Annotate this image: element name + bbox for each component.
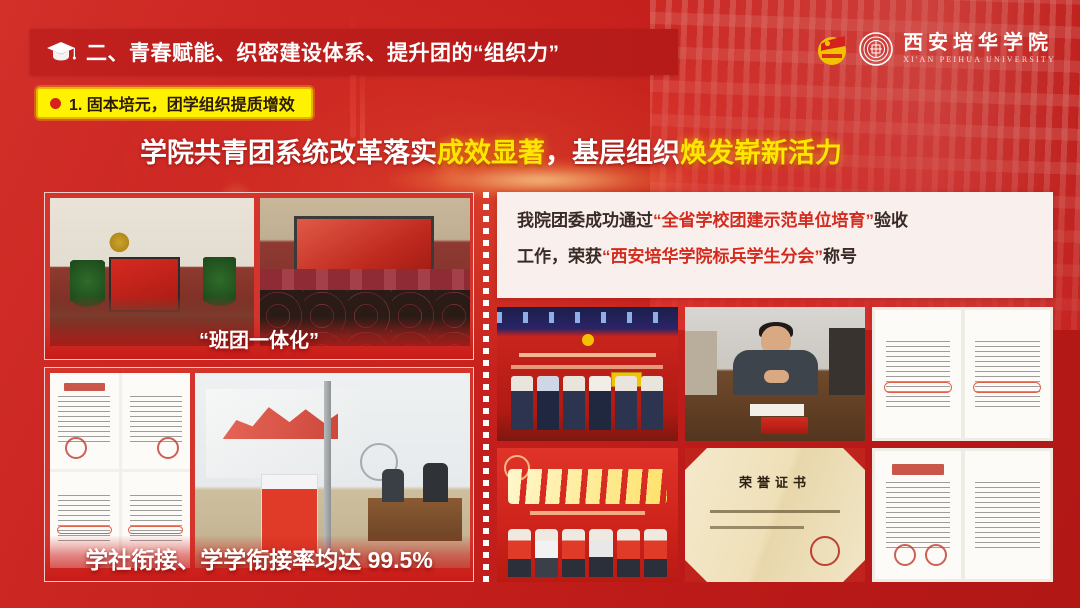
headline: 学院共青团系统改革落实 成效显著 ， 基层组织 焕发崭新活力	[140, 131, 930, 175]
callout-line-2-b: 称号	[823, 247, 857, 266]
callout-line-1: 我院团委成功通过“全省学校团建示范单位培育”验收	[517, 208, 1033, 234]
stage-banner-line-1	[519, 353, 656, 357]
certificate-corner-br	[843, 560, 865, 582]
portrait-meeting-photo	[685, 307, 866, 441]
certificate-corner-bl	[685, 560, 707, 582]
headline-part-2: 基层组织	[572, 140, 680, 167]
callout-line-2-a: 工作，荣获	[517, 247, 602, 266]
doc-page	[122, 373, 191, 469]
callout-line-1-a: 我院团委成功通过	[517, 211, 653, 230]
stage-emblem-icon	[582, 334, 594, 346]
right-photo-grid: 荣誉证书	[497, 307, 1053, 582]
presentation-slide: 二、青春赋能、织密建设体系、提升团的“组织力” 1. 固本培元，团学组织提质增效…	[0, 0, 1080, 608]
callout-line-2-highlight: “西安培华学院标兵学生分会”	[602, 247, 823, 266]
honor-certificate-photo: 荣誉证书	[685, 448, 866, 582]
certificate-seal-icon	[810, 536, 840, 566]
headline-comma: ，	[545, 140, 572, 167]
welcome-students	[508, 523, 667, 577]
vertical-dashed-divider	[483, 192, 489, 582]
university-logo: 西安培华学院 XI'AN PEIHUA UNIVERSITY	[815, 26, 1056, 72]
section-title-bar: 二、青春赋能、织密建设体系、提升团的“组织力”	[30, 29, 678, 75]
graduation-cap-icon	[46, 40, 76, 64]
side-person-right	[829, 328, 865, 395]
callout-line-1-highlight: “全省学校团建示范单位培育”	[653, 211, 874, 230]
document-list-photo	[872, 307, 1053, 441]
certificate-title-text: 荣誉证书	[685, 472, 866, 491]
communist-youth-league-emblem	[815, 32, 849, 66]
headline-part-1: 学院共青团系统改革落实	[140, 140, 437, 167]
subsection-badge-text: 1. 固本培元，团学组织提质增效	[69, 91, 295, 115]
caption-bottom-left: 学社衔接、学学衔接率均达 99.5%	[45, 535, 473, 581]
top-left-photo-frame: “班团一体化”	[44, 192, 474, 360]
callout-line-1-b: 验收	[874, 211, 908, 230]
caption-top-left: “班团一体化”	[45, 317, 473, 359]
achievement-callout-box: 我院团委成功通过“全省学校团建示范单位培育”验收 工作，荣获“西安培华学院标兵学…	[497, 192, 1053, 298]
left-photo-column: “班团一体化” 学社衔接、学学衔接率均达 99.5%	[44, 192, 474, 582]
glass-partition-pole	[324, 381, 331, 560]
certificate-corner-tr	[843, 448, 865, 470]
logo-name-en: XI'AN PEIHUA UNIVERSITY	[903, 54, 1056, 65]
document-notice-photo	[872, 448, 1053, 582]
logo-name-cn: 西安培华学院	[903, 33, 1056, 54]
certificate-line-1	[710, 510, 840, 513]
award-recipients	[511, 371, 663, 430]
stage-lights	[497, 312, 678, 323]
doc-page	[965, 310, 1050, 438]
doc-page	[875, 451, 960, 579]
doc-page	[50, 373, 119, 469]
bullet-dot-icon	[50, 98, 61, 109]
bottom-left-photo-frame: 学社衔接、学学衔接率均达 99.5%	[44, 367, 474, 582]
welcome-banner-photo	[497, 448, 678, 582]
speaker-hands	[764, 370, 789, 383]
side-person-left	[685, 331, 718, 395]
university-seal-icon	[858, 31, 894, 67]
certificate-corner-tl	[685, 448, 707, 470]
office-staff-2	[382, 469, 404, 502]
doc-page	[875, 310, 960, 438]
welcome-banner-subtitle	[530, 511, 646, 515]
logo-text-block: 西安培华学院 XI'AN PEIHUA UNIVERSITY	[903, 33, 1056, 65]
callout-line-2: 工作，荣获“西安培华学院标兵学生分会”称号	[517, 244, 1033, 270]
award-ceremony-photo	[497, 307, 678, 441]
stage-banner-line-2	[511, 365, 663, 369]
headline-highlight-1: 成效显著	[437, 140, 545, 167]
headline-highlight-2: 焕发崭新活力	[680, 140, 842, 167]
certificate-line-2	[710, 526, 804, 529]
welcome-banner-title	[508, 469, 667, 504]
desk-papers	[750, 404, 804, 416]
doc-page	[965, 451, 1050, 579]
office-staff-1	[423, 463, 448, 502]
subsection-badge: 1. 固本培元，团学组织提质增效	[36, 87, 313, 119]
desk-nameplate	[761, 417, 808, 434]
section-title-text: 二、青春赋能、织密建设体系、提升团的“组织力”	[86, 37, 560, 67]
right-content-column: 我院团委成功通过“全省学校团建示范单位培育”验收 工作，荣获“西安培华学院标兵学…	[497, 192, 1053, 582]
